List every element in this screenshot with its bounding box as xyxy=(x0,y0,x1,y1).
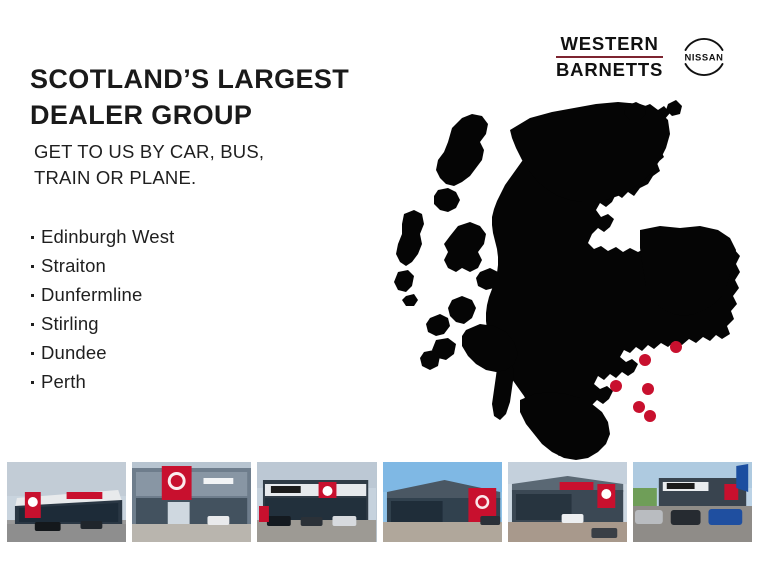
svg-text:NISSAN: NISSAN xyxy=(685,52,724,63)
list-item: Straiton xyxy=(30,251,350,280)
map-barra-south xyxy=(402,294,418,306)
bullet-icon xyxy=(30,381,41,384)
bullet-icon xyxy=(30,265,41,268)
subheadline: GET TO US BY CAR, BUS, TRAIN OR PLANE. xyxy=(34,139,374,190)
map-harris-south xyxy=(434,188,460,212)
map-marker-edinburgh-west xyxy=(633,401,645,413)
location-label: Straiton xyxy=(41,251,106,280)
subheadline-line-1: GET TO US BY CAR, BUS, xyxy=(34,139,374,165)
subheadline-line-2: TRAIN OR PLANE. xyxy=(34,165,374,191)
list-item: Dundee xyxy=(30,338,350,367)
headline-line-2: DEALER GROUP xyxy=(30,98,390,134)
map-islay xyxy=(420,350,440,370)
bullet-icon xyxy=(30,352,41,355)
bullet-icon xyxy=(30,236,41,239)
map-marker-perth xyxy=(639,354,651,366)
location-label: Edinburgh West xyxy=(41,222,174,251)
map-islay-jura-n xyxy=(426,314,450,336)
location-label: Dundee xyxy=(41,338,107,367)
dealership-photo: Nissan dealership exterior with NISSAN s… xyxy=(7,462,126,542)
map-lewis-harris xyxy=(436,114,488,186)
location-list: Edinburgh West Straiton Dunfermline Stir… xyxy=(30,222,350,396)
map-uists xyxy=(396,210,424,266)
dealership-photo: Nissan dealership forecourt with blue an… xyxy=(633,462,752,542)
map-galloway xyxy=(520,392,610,460)
location-label: Dunfermline xyxy=(41,280,142,309)
map-marker-straiton xyxy=(644,410,656,422)
map-mull xyxy=(448,296,476,324)
brand-name-line-2: BARNETTS xyxy=(556,61,663,80)
bullet-icon xyxy=(30,294,41,297)
location-label: Perth xyxy=(41,367,86,396)
map-barra xyxy=(394,270,414,292)
dealership-photo: Nissan dealership with red signage panel xyxy=(508,462,627,542)
map-marker-stirling xyxy=(610,380,622,392)
location-label: Stirling xyxy=(41,309,99,338)
dealership-photo-strip: Nissan dealership exterior with NISSAN s… xyxy=(0,462,759,544)
map-marker-dunfermline xyxy=(642,383,654,395)
nissan-logo-icon: NISSAN xyxy=(677,30,731,84)
map-marker-dundee xyxy=(670,341,682,353)
list-item: Stirling xyxy=(30,309,350,338)
map-skye xyxy=(444,222,486,272)
scotland-landmass xyxy=(394,100,740,460)
list-item: Edinburgh West xyxy=(30,222,350,251)
scotland-map xyxy=(380,100,752,462)
brand-lockup: WESTERN BARNETTS NISSAN xyxy=(556,26,742,88)
slide-root: WESTERN BARNETTS NISSAN SCOTLAND’S LARGE… xyxy=(0,0,759,568)
dealership-photo: Western Nissan showroom with large red N… xyxy=(132,462,251,542)
headline-line-1: SCOTLAND’S LARGEST xyxy=(30,62,390,98)
list-item: Dunfermline xyxy=(30,280,350,309)
brand-name-line-1: WESTERN xyxy=(556,35,663,54)
list-item: Perth xyxy=(30,367,350,396)
dealership-photo: Nissan dealership forecourt with parked … xyxy=(257,462,376,542)
bullet-icon xyxy=(30,323,41,326)
page-title: SCOTLAND’S LARGEST DEALER GROUP xyxy=(30,62,390,133)
scotland-map-svg xyxy=(380,100,752,462)
dealership-photo: Modern glass Nissan showroom corner view xyxy=(383,462,502,542)
brand-wordmark: WESTERN BARNETTS xyxy=(556,35,663,80)
brand-divider-rule xyxy=(556,56,663,58)
